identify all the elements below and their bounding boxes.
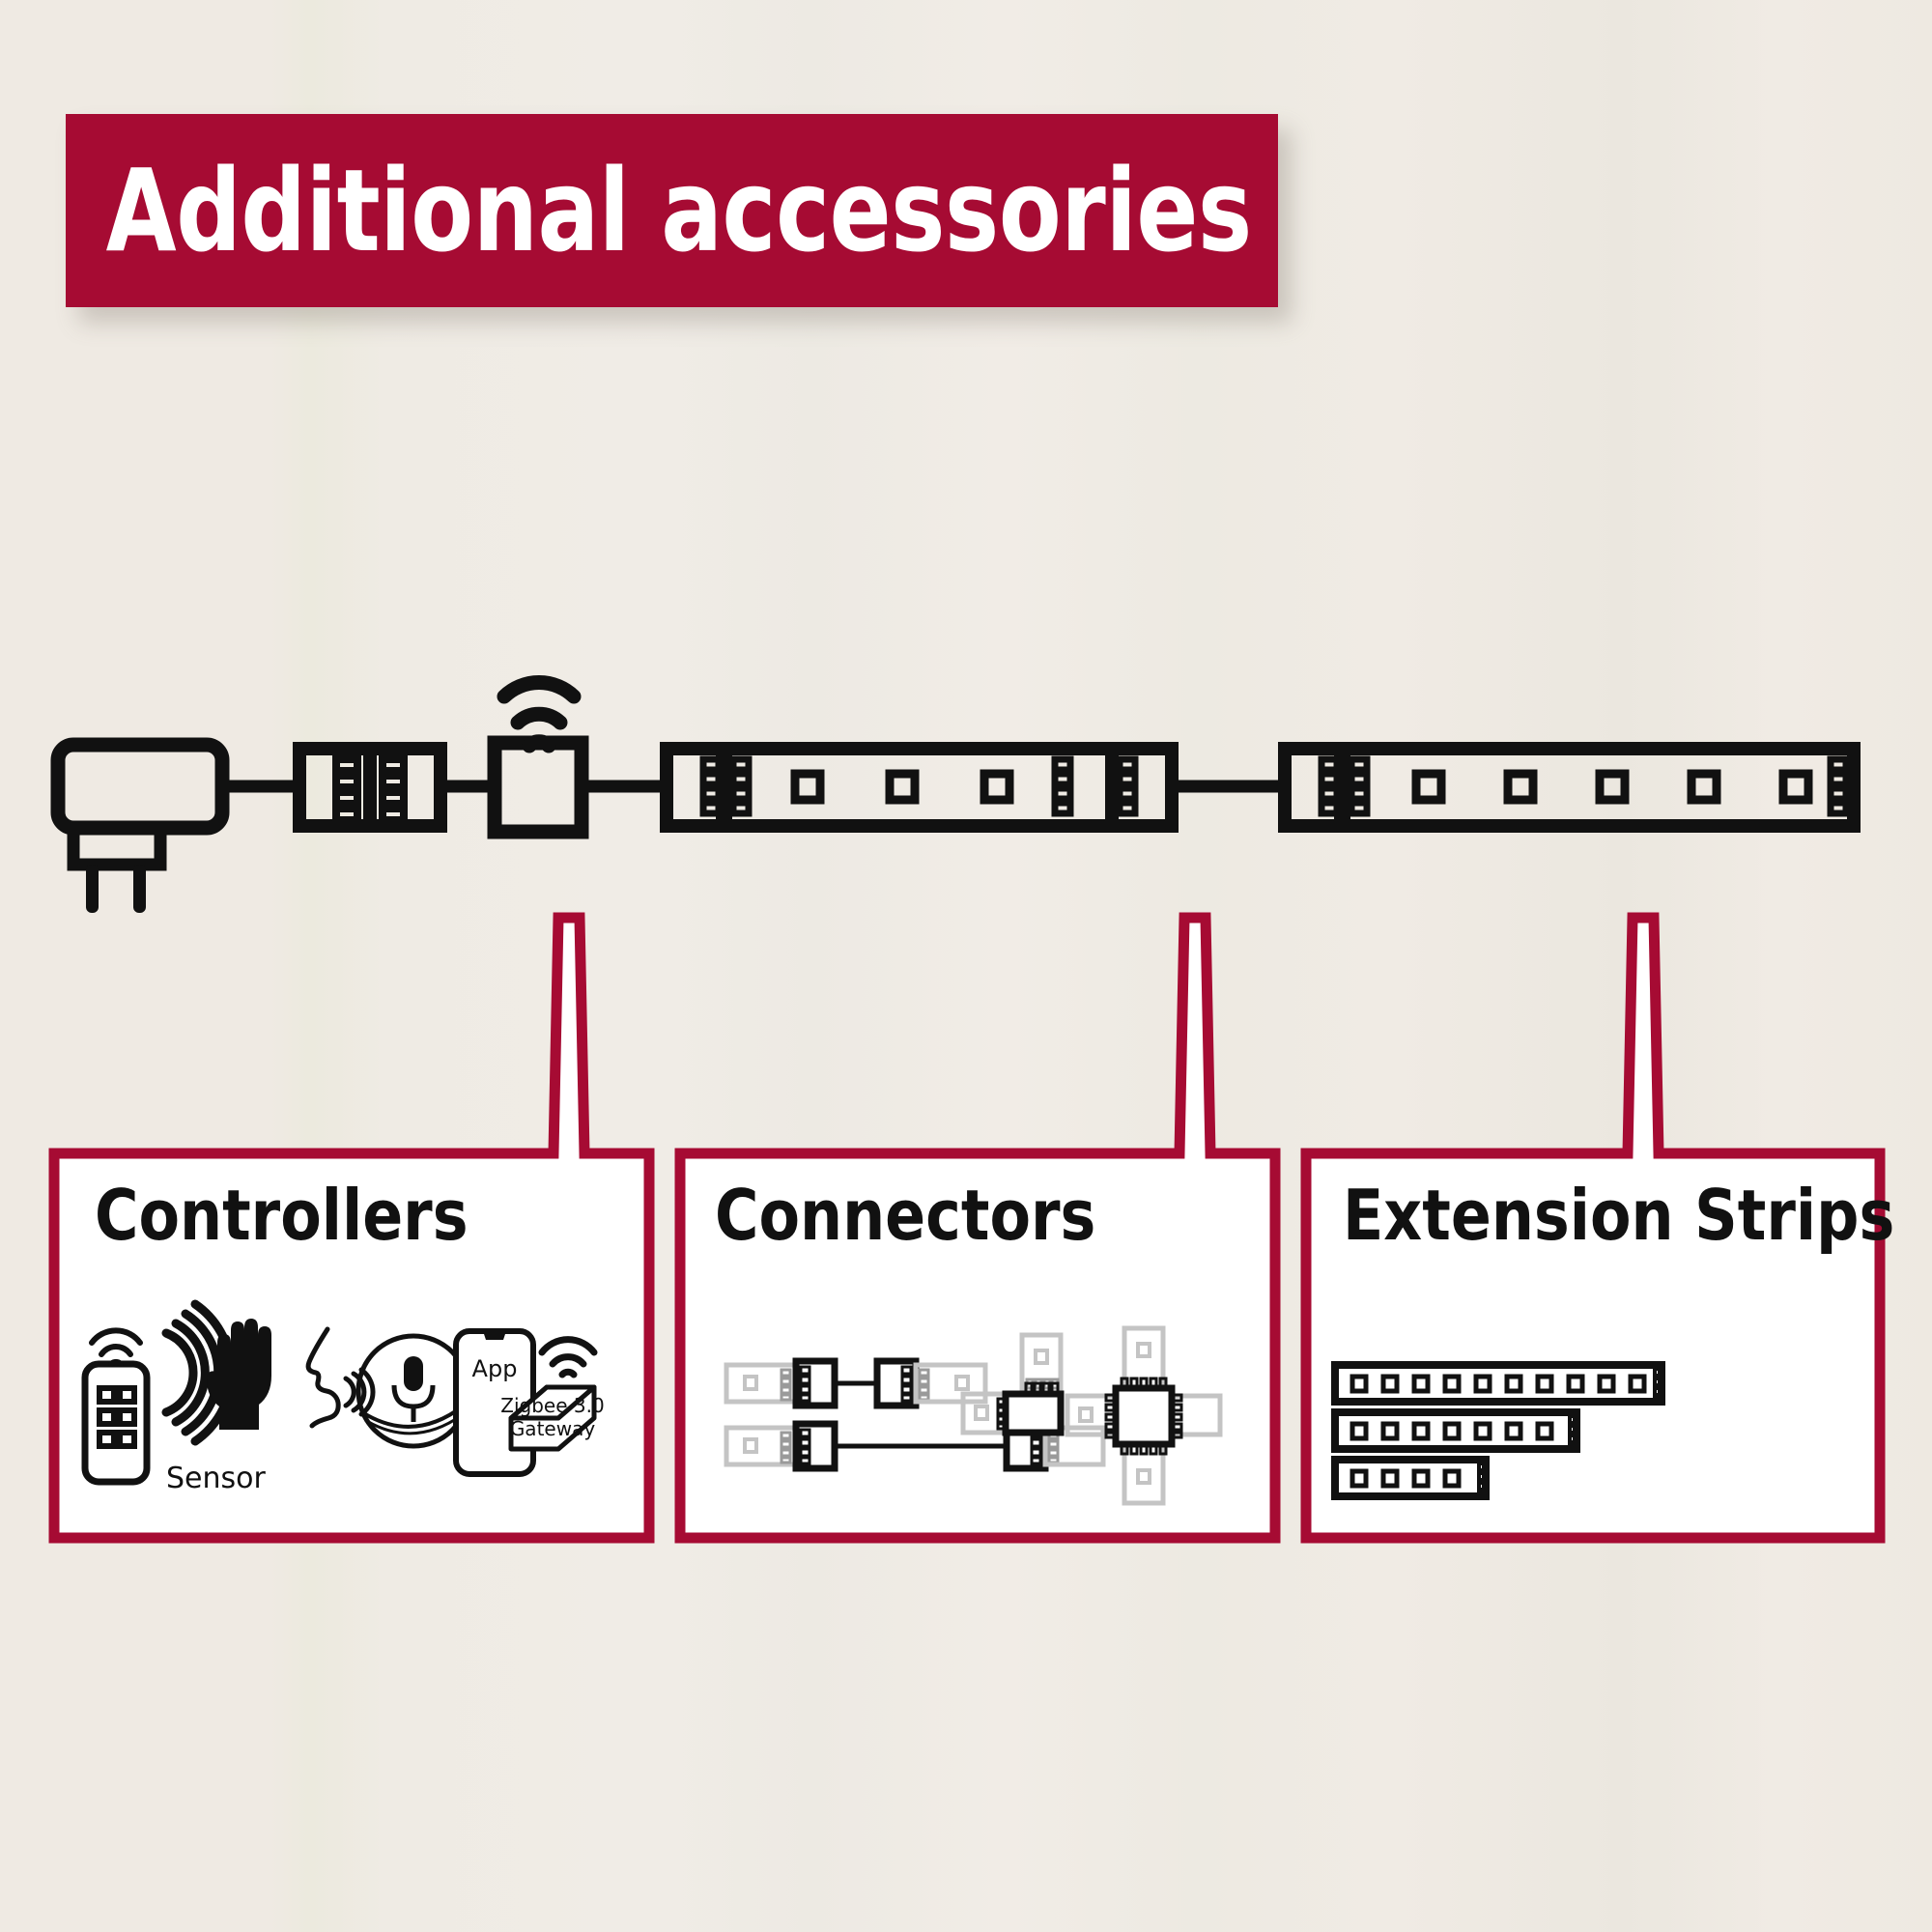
power-supply-plug [58, 745, 299, 913]
sensor-label: Sensor [166, 1462, 266, 1495]
long-jumper-connector-icon [726, 1424, 1103, 1468]
app-label: App [472, 1355, 518, 1382]
card-title-controllers: Controllers [95, 1180, 469, 1250]
remote-control-icon [85, 1330, 147, 1482]
title-banner: Additional accessories [66, 114, 1278, 307]
page-title: Additional accessories [66, 154, 1252, 268]
chain-led-strip-1 [667, 749, 1285, 826]
extension-strip-short [1335, 1460, 1487, 1496]
short-jumper-connector-icon [726, 1361, 985, 1406]
card-title-connectors: Connectors [715, 1180, 1095, 1250]
extension-strip-long [1335, 1365, 1662, 1402]
app-gateway-icon: App Zigbee 3.0 Gateway [456, 1331, 605, 1474]
gateway-label-line2: Gateway [510, 1417, 596, 1440]
gateway-label-line1: Zigbee 3.0 [500, 1394, 604, 1417]
extension-strip-medium [1335, 1412, 1577, 1449]
cross-connector-icon [1067, 1328, 1220, 1503]
motion-sensor-icon [166, 1304, 231, 1441]
smart-speaker-icon [358, 1336, 469, 1446]
corner-connector-icon [963, 1335, 1061, 1433]
wifi-icon [504, 683, 574, 746]
voice-control-icon [308, 1329, 373, 1426]
card-title-extension-strips: Extension Strips [1343, 1180, 1894, 1250]
wifi-controller-box [495, 743, 667, 832]
chain-connector-1 [299, 749, 495, 826]
hand-icon [207, 1319, 271, 1430]
chain-led-strip-2 [1285, 749, 1854, 826]
